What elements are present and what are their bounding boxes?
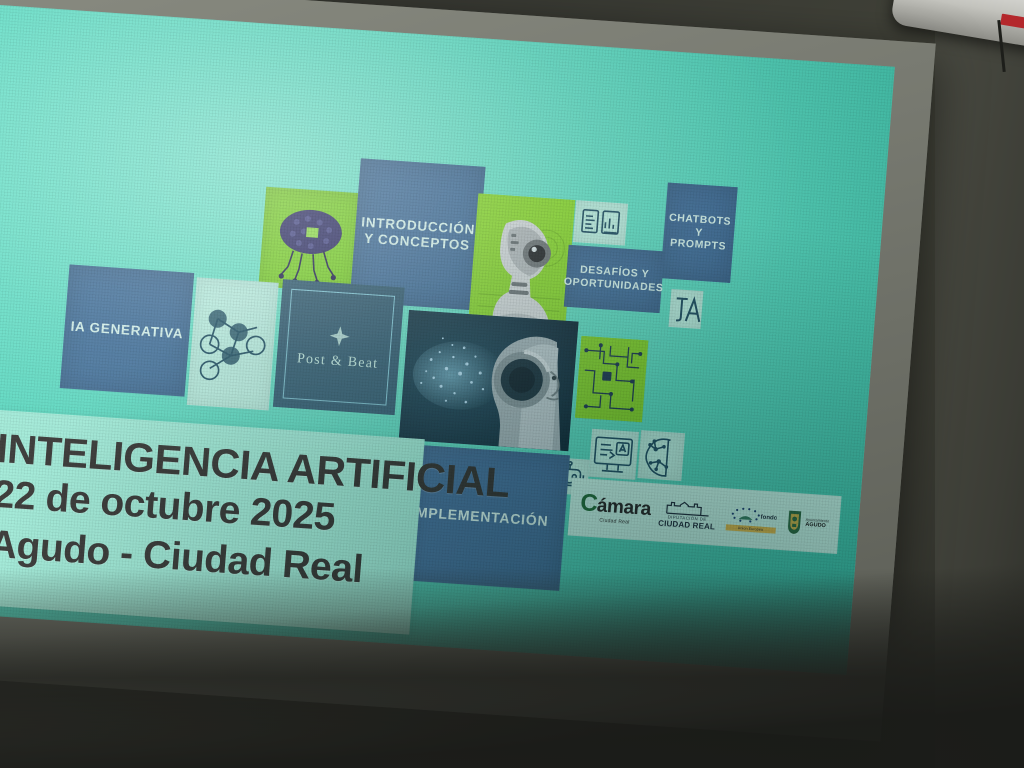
topic-tile-implementacion-label: IMPLEMENTACIÓN [411, 504, 549, 530]
brand-card-name: Post & Beat [296, 351, 379, 373]
logo-camara-ciudad-real: C ámara Ciudad Real [579, 492, 652, 526]
android-head-glyph [399, 310, 579, 451]
slide-canvas: ARTIFICIAL 2025 Real [0, 4, 895, 674]
translate-monitor-glyph [588, 429, 639, 480]
topic-tile-desafios[interactable]: DESAFÍOS Y OPORTUNIDADES [564, 245, 665, 313]
topic-tile-introduccion-label: INTRODUCCIÓN Y CONCEPTOS [359, 214, 475, 255]
document-chart-glyph [573, 200, 628, 245]
topic-tile-desafios-label: DESAFÍOS Y OPORTUNIDADES [563, 263, 664, 295]
sponsor-logo-strip: C ámara Ciudad Real DIPUT [568, 478, 842, 554]
node-network-glyph [187, 277, 279, 410]
android-head-photo [399, 310, 579, 451]
logo-ayuntamiento-agudo: Ayuntamiento AGUDO [786, 508, 831, 537]
slide-title-panel: INTELIGENCIA ARTIFICIAL 22 de octubre 20… [0, 408, 425, 634]
agudo-crest-icon [786, 508, 804, 535]
topic-tile-chatbots-label: CHATBOTS Y PROMPTS [667, 211, 732, 254]
logo-camara-subtitle: Ciudad Real [599, 517, 630, 525]
topic-tile-chatbots[interactable]: CHATBOTS Y PROMPTS [660, 182, 737, 283]
topic-tile-ia-generativa[interactable]: IA GENERATIVA [60, 264, 195, 396]
circuit-board-glyph [575, 336, 648, 422]
topic-tile-ia-generativa-label: IA GENERATIVA [70, 318, 184, 342]
projected-slide: ARTIFICIAL 2025 Real [0, 4, 895, 674]
node-network-icon [187, 277, 279, 410]
diamond-star-icon [327, 323, 353, 349]
document-chart-icon [573, 200, 628, 245]
logo-ayuntamiento-line2: AGUDO [805, 522, 829, 530]
logo-diputacion-line2: CIUDAD REAL [658, 519, 715, 532]
brain-circuit-glyph [637, 430, 685, 481]
ia-monogram-icon [668, 289, 703, 329]
ia-monogram-glyph [668, 289, 703, 329]
logo-fondo-union-europea: fondo Union Europea [723, 505, 779, 534]
logo-camara-name: ámara [596, 498, 651, 519]
brand-card-inner: Post & Beat [283, 289, 395, 406]
photo-scene: ARTIFICIAL 2025 Real [0, 0, 1024, 768]
brain-chip-icon [258, 187, 362, 293]
brain-circuit-icon [637, 430, 685, 481]
eu-stars-icon: fondo [726, 505, 777, 526]
circuit-board-icon [575, 336, 648, 422]
logo-diputacion-ciudad-real: DIPUTACIÓN DE CIUDAD REAL [658, 498, 717, 532]
svg-text:fondo: fondo [760, 514, 777, 521]
brain-chip-glyph [258, 187, 362, 293]
roller-brand-label [1000, 14, 1024, 29]
translate-monitor-icon [588, 429, 639, 480]
logo-camara-initial: C [580, 492, 598, 515]
brand-card-post-and-beat: Post & Beat [273, 279, 405, 415]
